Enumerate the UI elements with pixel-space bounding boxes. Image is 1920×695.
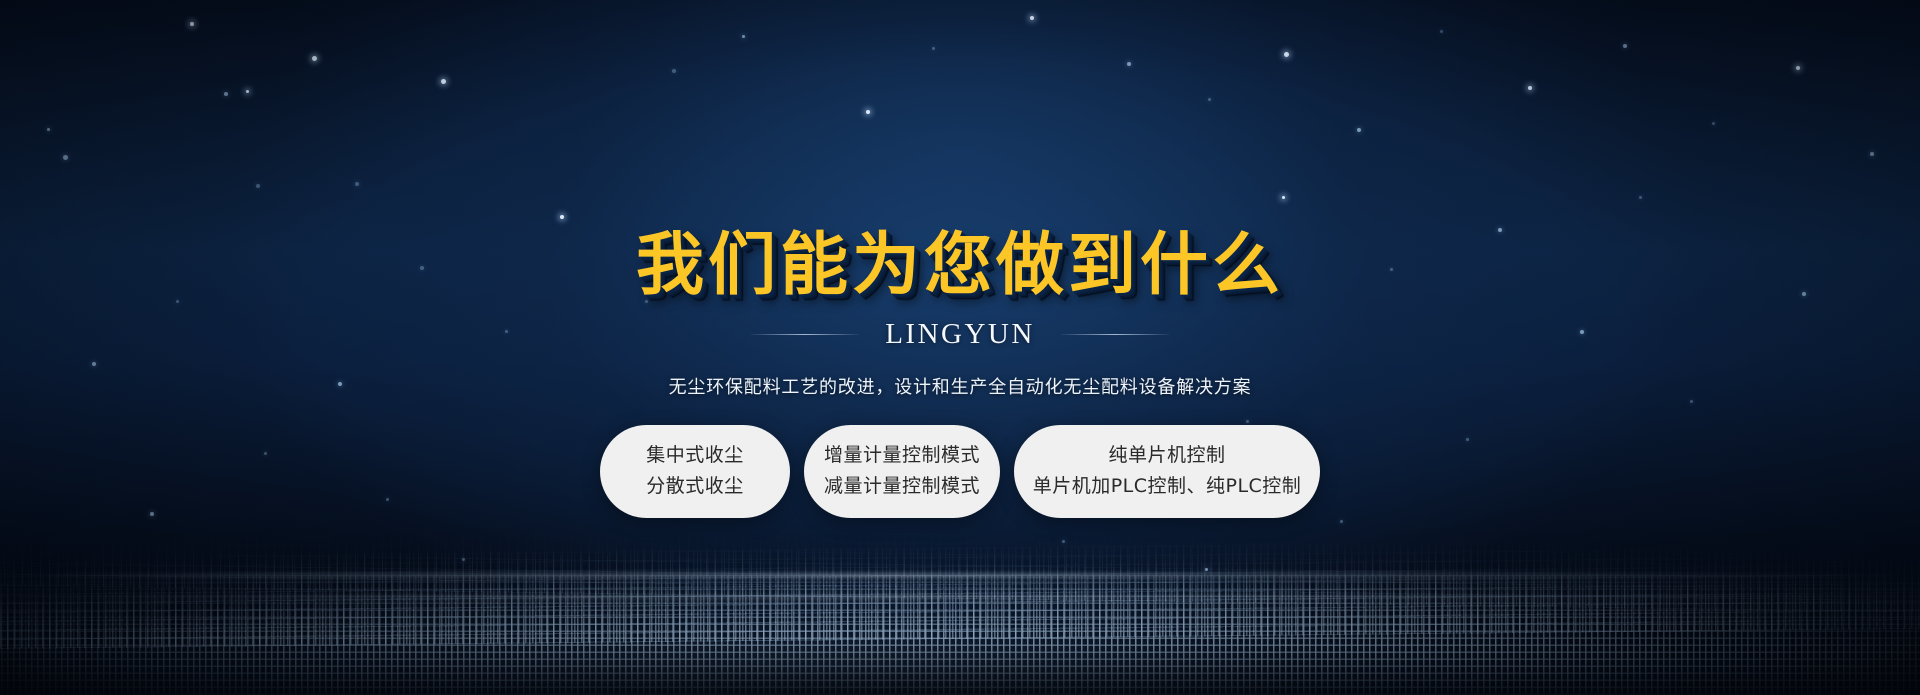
page-title: 我们能为您做到什么 <box>0 232 1920 300</box>
hero-description: 无尘环保配料工艺的改进，设计和生产全自动化无尘配料设备解决方案 <box>0 373 1920 399</box>
star-dot <box>1062 540 1065 543</box>
mesh-layer-mid <box>0 536 1920 650</box>
feature-card-collection[interactable]: 集中式收尘 分散式收尘 <box>600 425 790 518</box>
hero-banner: 我们能为您做到什么 LINGYUN 无尘环保配料工艺的改进，设计和生产全自动化无… <box>0 0 1920 695</box>
divider-line-left <box>751 334 859 335</box>
star-dot <box>1205 568 1208 571</box>
mesh-bottom-fade <box>0 643 1920 695</box>
mesh-layer-back <box>0 515 1920 614</box>
mesh-glow <box>0 505 1920 695</box>
card-line: 纯单片机控制 <box>1108 445 1225 467</box>
card-line: 集中式收尘 <box>646 445 744 467</box>
card-line: 减量计量控制模式 <box>824 476 980 498</box>
subtitle-row: LINGYUN <box>0 318 1920 351</box>
mesh-light-streak <box>0 596 1920 599</box>
feature-card-control[interactable]: 纯单片机控制 单片机加PLC控制、纯PLC控制 <box>1014 425 1320 518</box>
card-line: 分散式收尘 <box>646 476 744 498</box>
mesh-light-streak <box>0 574 1920 577</box>
mesh-layer-front <box>0 575 1920 695</box>
brand-subtitle: LINGYUN <box>885 318 1035 351</box>
feature-card-metering[interactable]: 增量计量控制模式 减量计量控制模式 <box>804 425 1000 518</box>
card-line: 单片机加PLC控制、纯PLC控制 <box>1033 476 1302 498</box>
hero-content: 我们能为您做到什么 LINGYUN 无尘环保配料工艺的改进，设计和生产全自动化无… <box>0 0 1920 518</box>
star-dot <box>462 558 465 561</box>
card-line: 增量计量控制模式 <box>824 445 980 467</box>
feature-card-list: 集中式收尘 分散式收尘 增量计量控制模式 减量计量控制模式 纯单片机控制 单片机… <box>0 425 1920 518</box>
star-dot <box>1340 520 1343 523</box>
divider-line-right <box>1061 334 1169 335</box>
